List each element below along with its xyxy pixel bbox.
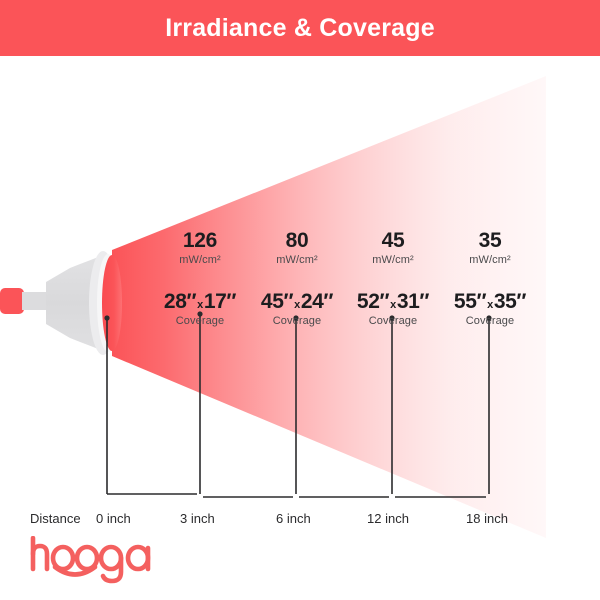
- distance-axis-title: Distance: [30, 511, 81, 526]
- coverage-width-2: 52″: [357, 290, 389, 313]
- distance-tick-3: 12 inch: [367, 511, 409, 526]
- coverage-separator-0: x: [196, 299, 204, 311]
- coverage-height-0: 17″: [204, 290, 236, 313]
- irradiance-value-3: 35: [430, 230, 550, 252]
- coverage-width-1: 45″: [261, 290, 293, 313]
- measurement-column-3: 35 mW/cm² 55″x35″ Coverage: [430, 230, 550, 330]
- lamp-stem: [22, 292, 48, 310]
- coverage-width-0: 28″: [164, 290, 196, 313]
- lamp-device: [0, 251, 122, 355]
- coverage-height-3: 35″: [494, 290, 526, 313]
- lamp-plug: [0, 288, 24, 314]
- coverage-dimensions-3: 55″x35″: [430, 291, 550, 313]
- coverage-caption-3: Coverage: [430, 313, 550, 331]
- coverage-height-2: 31″: [397, 290, 429, 313]
- distance-tick-4: 18 inch: [466, 511, 508, 526]
- lamp-lens: [102, 255, 122, 351]
- coverage-width-3: 55″: [454, 290, 486, 313]
- distance-tick-2: 6 inch: [276, 511, 311, 526]
- irradiance-coverage-infographic: Irradiance & Coverage: [0, 0, 600, 600]
- coverage-height-1: 24″: [301, 290, 333, 313]
- distance-brackets: [107, 494, 486, 497]
- coverage-separator-2: x: [389, 299, 397, 311]
- distance-tick-0: 0 inch: [96, 511, 131, 526]
- coverage-separator-3: x: [486, 299, 494, 311]
- distance-tick-1: 3 inch: [180, 511, 215, 526]
- irradiance-unit-3: mW/cm²: [430, 252, 550, 269]
- coverage-separator-1: x: [293, 299, 301, 311]
- leader-dot-0: [104, 315, 109, 320]
- hooga-logo: [28, 536, 178, 584]
- page-title: Irradiance & Coverage: [0, 0, 600, 56]
